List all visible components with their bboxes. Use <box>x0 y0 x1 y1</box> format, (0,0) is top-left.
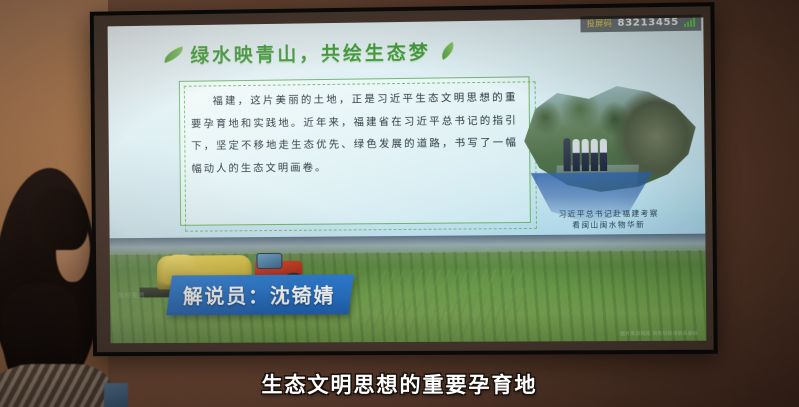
photo-caption: 习近平总书记赴福建考察 看闽山闽水物华新 <box>516 207 703 231</box>
photo-person <box>572 139 579 171</box>
projector-screen-frame: 绿水映青山，共绘生态梦 福建，这片美丽的土地，正是习近平生态文明思想的重要孕育地… <box>90 2 718 356</box>
photo-person <box>563 138 570 171</box>
farm-photo-watermark: 图片来源网络 如有侵权请联系删除 <box>620 331 698 337</box>
narrator-banner-text: 解说员：沈锜婧 <box>183 279 336 309</box>
cast-code-overlay: 投屏码 83213455 <box>580 14 701 32</box>
leaf-icon <box>438 41 458 59</box>
projector-screen-surface: 绿水映青山，共绘生态梦 福建，这片美丽的土地，正是习近平生态文明思想的重要孕育地… <box>94 6 714 352</box>
photo-person <box>581 139 588 171</box>
cast-code-label: 投屏码 <box>587 18 613 29</box>
signal-bars-icon <box>684 18 695 27</box>
slide-body-text: 福建，这片美丽的土地，正是习近平生态文明思想的重要孕育地和实践地。近年来，福建省… <box>191 87 519 181</box>
photo-person <box>600 139 607 171</box>
farm-tractor-tracks <box>364 269 531 342</box>
slide-title-row: 绿水映青山，共绘生态梦 <box>163 33 491 71</box>
room-background: 绿水映青山，共绘生态梦 福建，这片美丽的土地，正是习近平生态文明思想的重要孕育地… <box>0 0 799 407</box>
photo-people-group <box>563 139 638 172</box>
narrator-banner: 解说员：沈锜婧 <box>166 274 354 315</box>
slide-text-card: 福建，这片美丽的土地，正是习近平生态文明思想的重要孕育地和实践地。近年来，福建省… <box>179 76 531 225</box>
slide-corner-watermark: 限时免费 <box>118 291 146 300</box>
photo-caption-line-2: 看闽山闽水物华新 <box>516 219 703 232</box>
photo-person <box>591 139 598 171</box>
cast-code-value: 83213455 <box>617 17 679 29</box>
video-subtitle: 生态文明思想的重要孕育地 <box>0 369 799 399</box>
slide-title: 绿水映青山，共绘生态梦 <box>190 37 431 67</box>
slide-photo-block: 习近平总书记赴福建考察 看闽山闽水物华新 <box>514 80 702 205</box>
person-fringe <box>30 188 88 250</box>
presentation-slide: 绿水映青山，共绘生态梦 福建，这片美丽的土地，正是习近平生态文明思想的重要孕育地… <box>108 17 707 343</box>
leaf-icon <box>162 46 186 63</box>
tractor-cab <box>256 253 282 269</box>
